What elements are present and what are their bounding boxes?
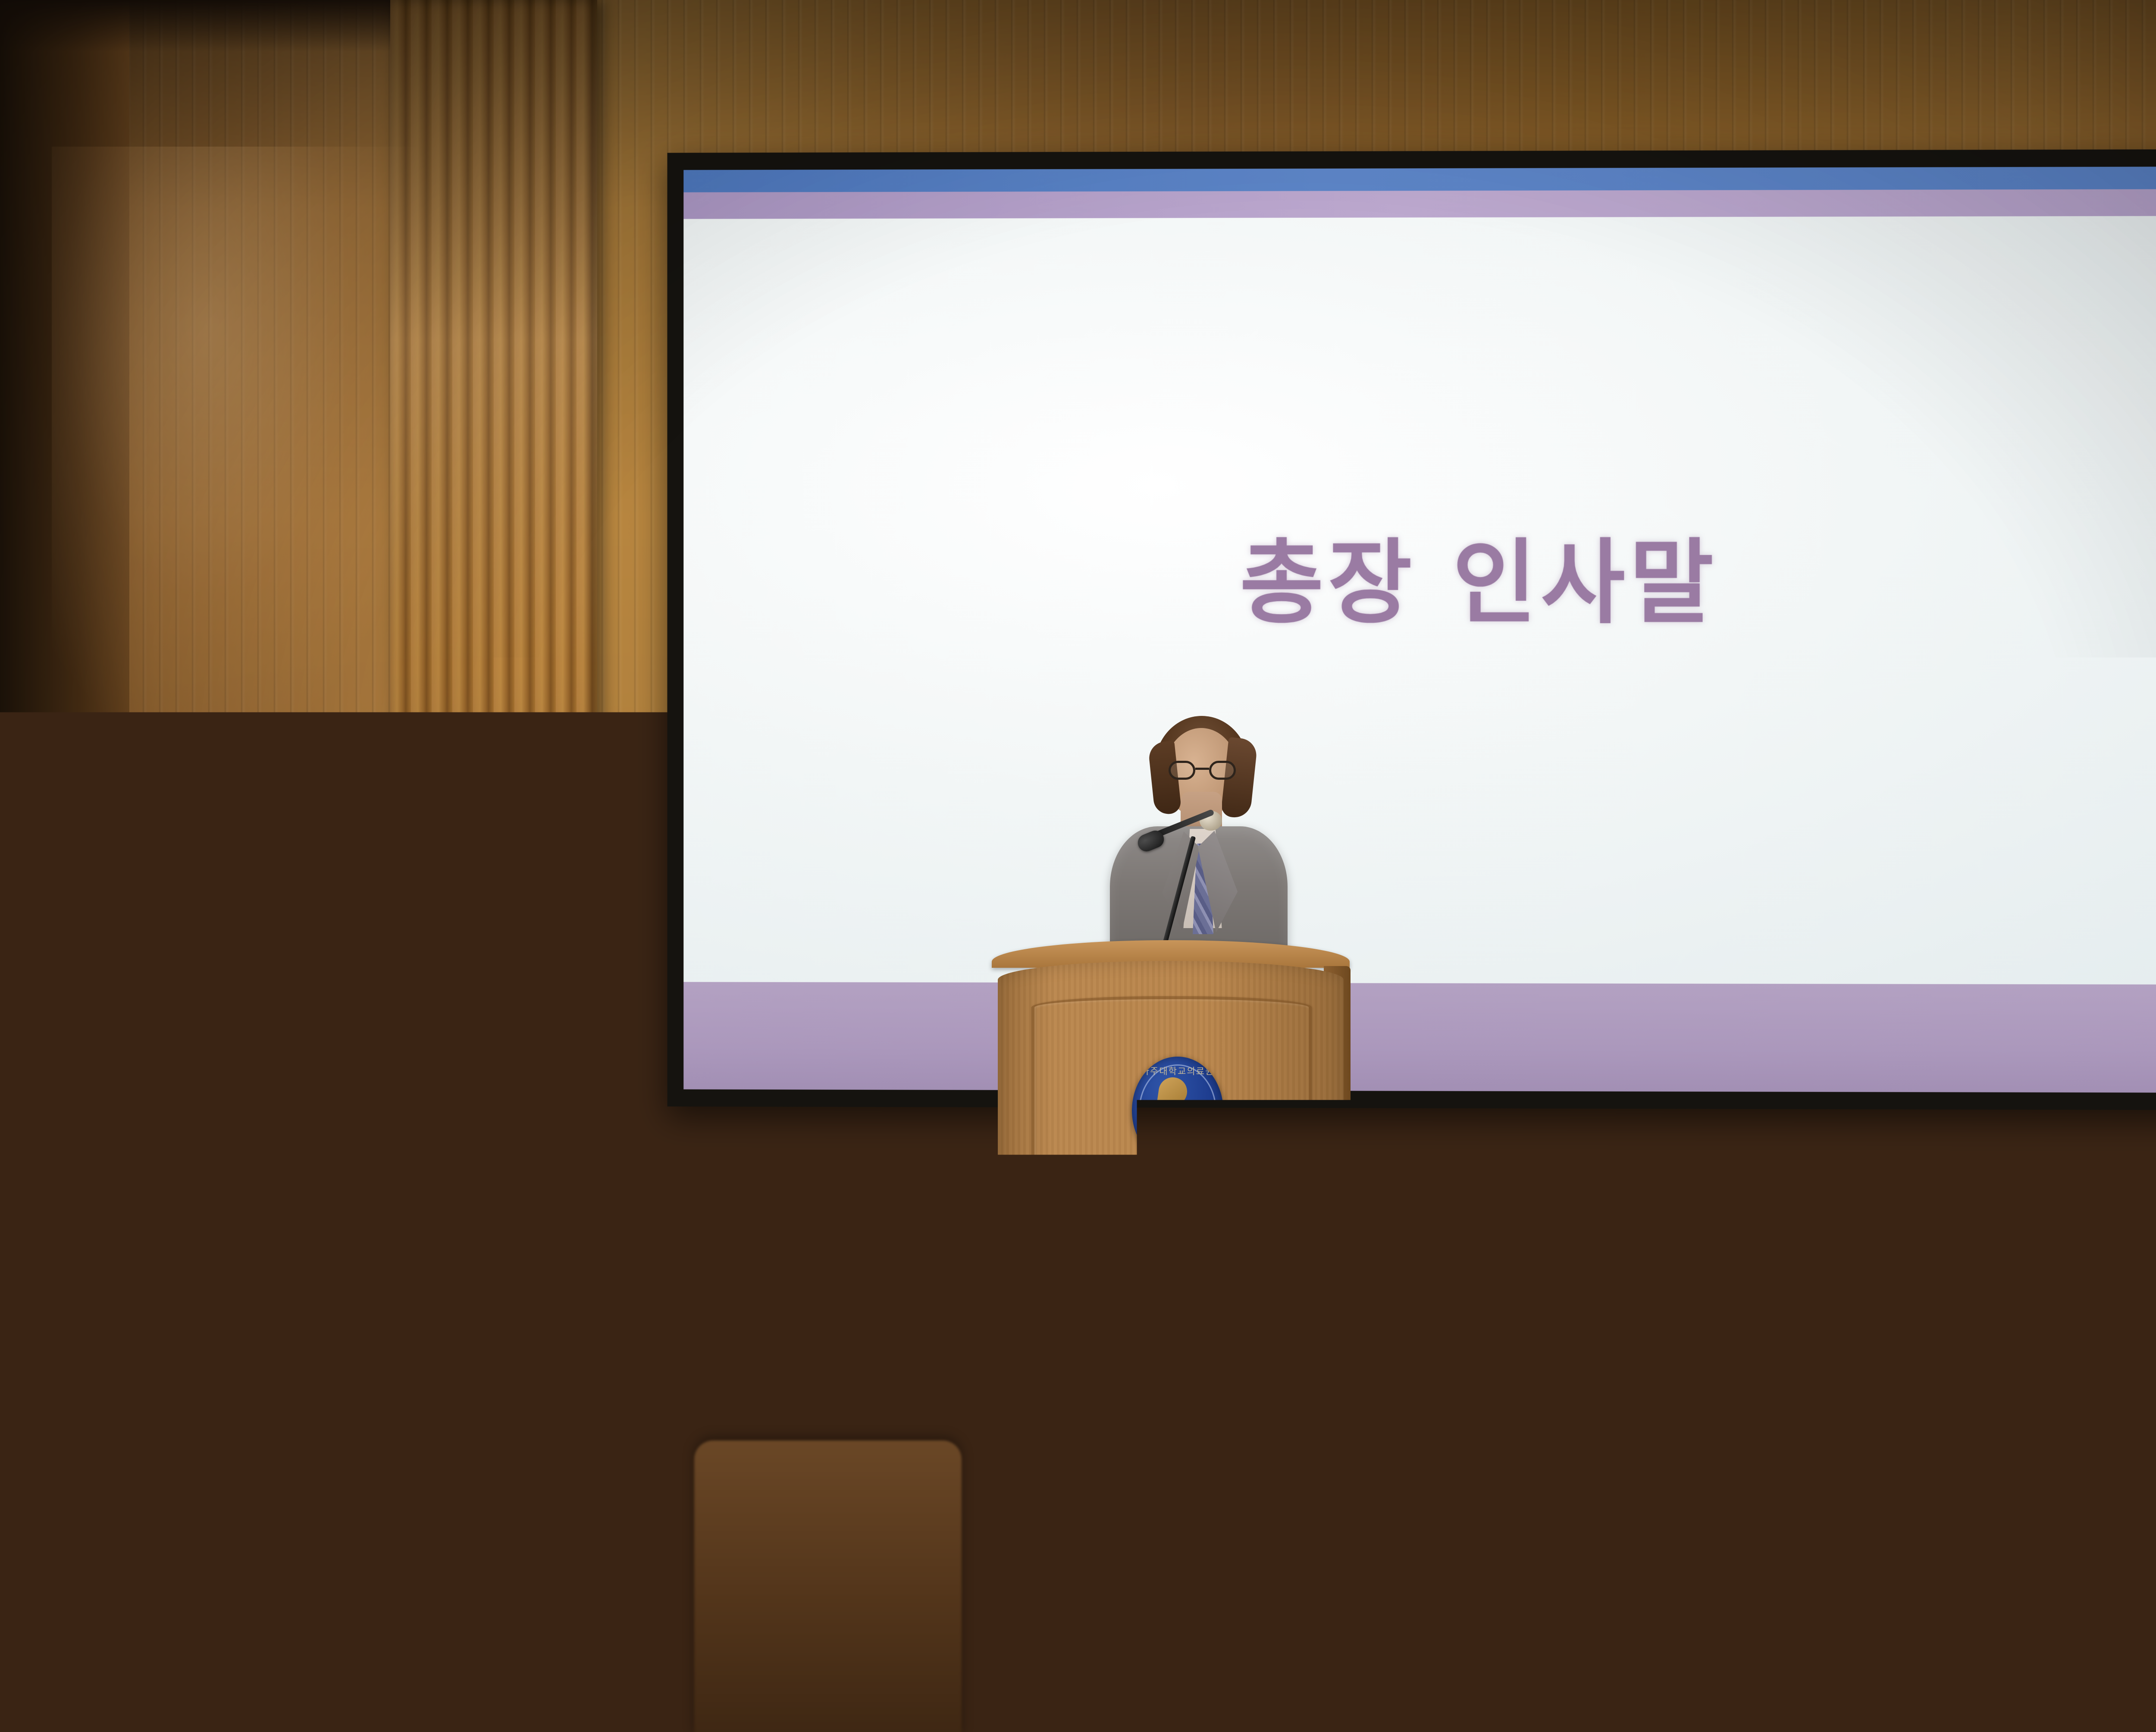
emblem-symbol-icon xyxy=(1159,1077,1197,1142)
monitor-base xyxy=(0,1021,82,1054)
emblem-symbol-tail xyxy=(1168,1123,1175,1142)
emblem-symbol-upper xyxy=(1157,1076,1189,1108)
podium-venue-letters: 아주대학교병원 xyxy=(998,1177,1344,1223)
podium-front-face: 아주대학교의료원 Ajou University Hospital 아주대학교병… xyxy=(998,961,1344,1401)
projection-screen-surface: 총장 인사말 xyxy=(683,166,2156,1093)
confidence-monitor[interactable] xyxy=(0,923,172,1070)
audience-right-hair xyxy=(1690,1160,1988,1436)
foreground-chair xyxy=(1483,1492,1725,1732)
speaker-person xyxy=(1104,716,1294,966)
glasses-bridge xyxy=(1195,768,1209,770)
foreground-chair xyxy=(2139,1535,2156,1732)
glasses-lens-left xyxy=(1169,761,1195,780)
slide-bottom-lavender-band xyxy=(683,982,2156,1093)
podium-base-plinth xyxy=(999,1420,1344,1438)
audience-member-left xyxy=(0,1354,328,1732)
podium-base-molding xyxy=(989,1396,1352,1421)
audience-right-collar xyxy=(1856,1411,2003,1562)
projection-screen-frame: 총장 인사말 Spectro xyxy=(667,149,2156,1111)
audience-left-coat xyxy=(0,1518,362,1732)
wall-dark-top-edge xyxy=(0,0,431,52)
emblem-korean-ring-text: 아주대학교의료원 xyxy=(1132,1064,1223,1077)
hospital-emblem-icon: 아주대학교의료원 Ajou University Hospital xyxy=(1132,1057,1223,1164)
wall-panel-left xyxy=(390,0,597,1216)
podium: 아주대학교의료원 Ajou University Hospital 아주대학교병… xyxy=(992,940,1350,1449)
emblem-english-ring-text: Ajou University Hospital xyxy=(1132,1147,1223,1157)
foreground-chair xyxy=(694,1440,962,1732)
slide-top-blue-band xyxy=(683,166,2156,192)
auditorium-scene: 총장 인사말 Spectro xyxy=(0,0,2156,1732)
speaker-glasses xyxy=(1169,761,1236,780)
slide-top-lavender-band xyxy=(683,189,2156,219)
presentation-slide: 총장 인사말 xyxy=(683,166,2156,1093)
glasses-lens-right xyxy=(1209,761,1236,780)
slide-title-text: 총장 인사말 xyxy=(683,508,2156,641)
